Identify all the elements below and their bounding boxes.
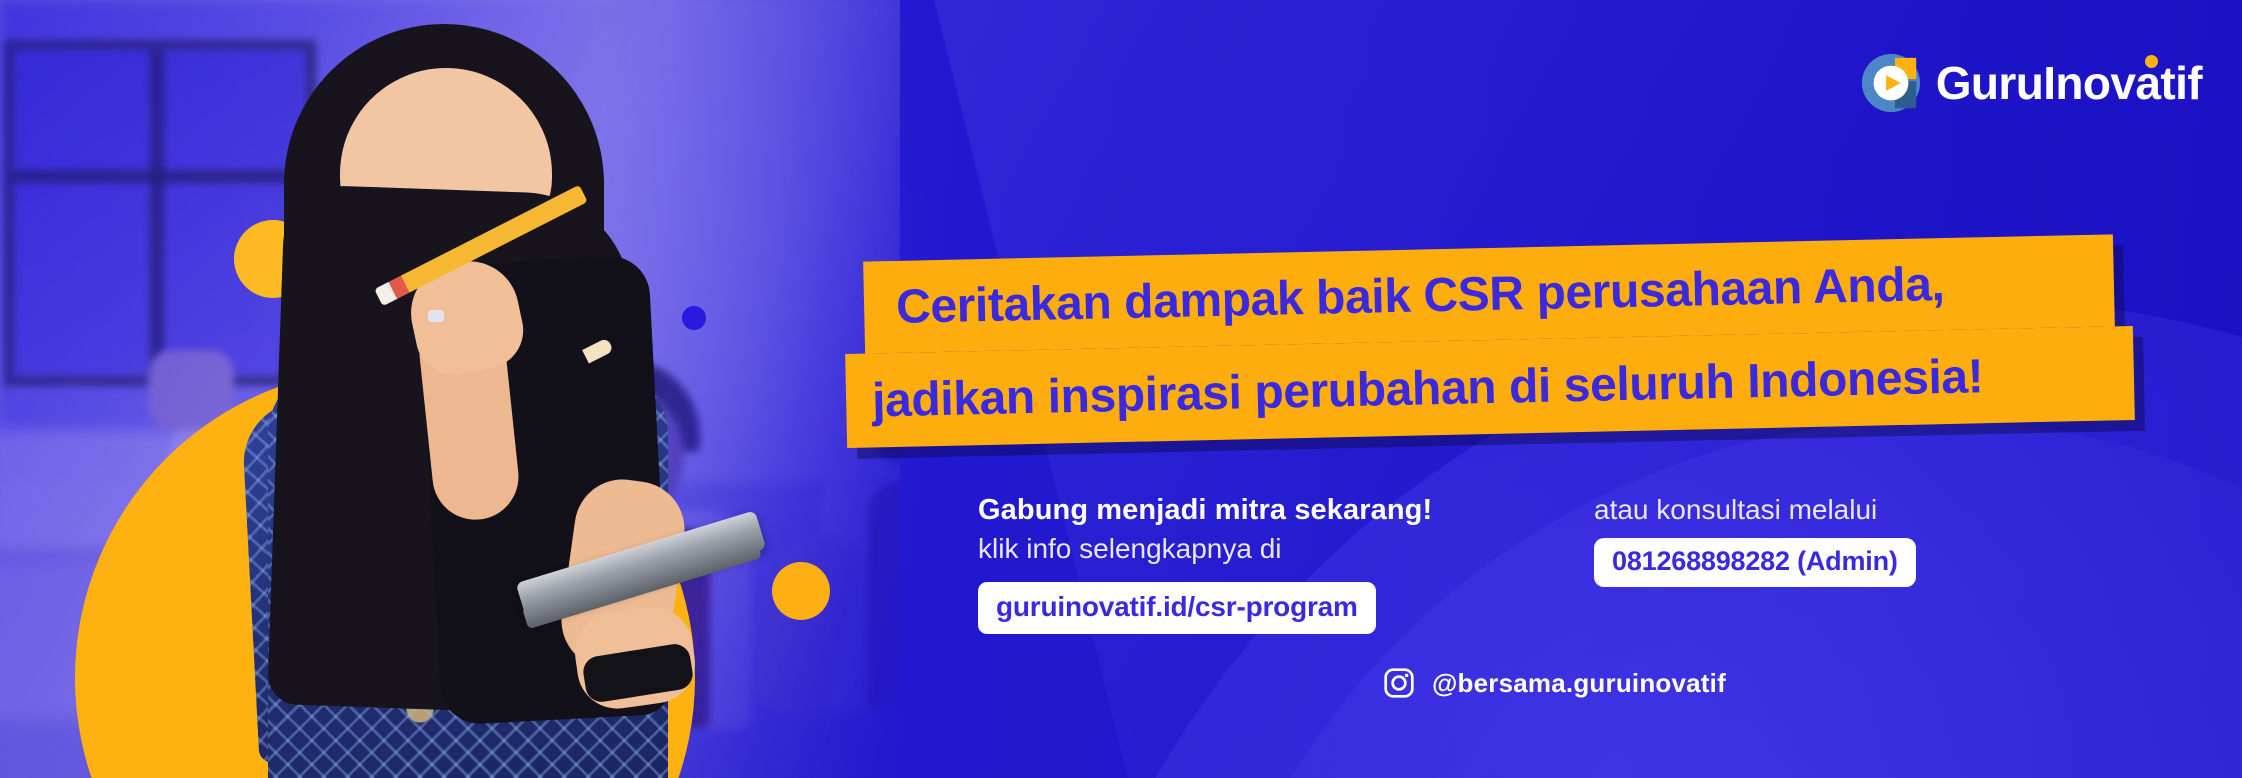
cta-subheading: klik info selengkapnya di <box>978 533 1538 565</box>
social-handle-text: @bersama.guruinovatif <box>1432 668 1726 699</box>
social-handle-row[interactable]: @bersama.guruinovatif <box>1382 666 1726 700</box>
phone-pill-button[interactable]: 081268898282 (Admin) <box>1594 538 1916 587</box>
cta-left-block: Gabung menjadi mitra sekarang! klik info… <box>978 494 1538 634</box>
logo-wordmark-text: GuruInovatif <box>1936 57 2202 109</box>
teacher-ring <box>428 310 444 322</box>
logo-accent-dot <box>2145 55 2158 68</box>
cta-heading: Gabung menjadi mitra sekarang! <box>978 494 1538 527</box>
cta-right-block: atau konsultasi melalui 081268898282 (Ad… <box>1594 494 2064 587</box>
brand-logo[interactable]: GuruInovatif <box>1860 52 2202 114</box>
headline-line-2: jadikan inspirasi perubahan di seluruh I… <box>872 349 1984 428</box>
headline-line-1: Ceritakan dampak baik CSR perusahaan And… <box>896 257 1945 335</box>
play-circle-icon <box>1860 52 1922 114</box>
csr-program-banner: Ceritakan dampak baik CSR perusahaan And… <box>0 0 2242 778</box>
consultation-label: atau konsultasi melalui <box>1594 494 2064 526</box>
logo-wordmark: GuruInovatif <box>1936 56 2202 110</box>
orange-circle-small-2-icon <box>772 562 830 620</box>
teacher-figure <box>180 10 740 778</box>
instagram-icon <box>1382 666 1416 700</box>
url-pill-button[interactable]: guruinovatif.id/csr-program <box>978 582 1376 634</box>
headline-block: Ceritakan dampak baik CSR perusahaan And… <box>846 248 2146 432</box>
